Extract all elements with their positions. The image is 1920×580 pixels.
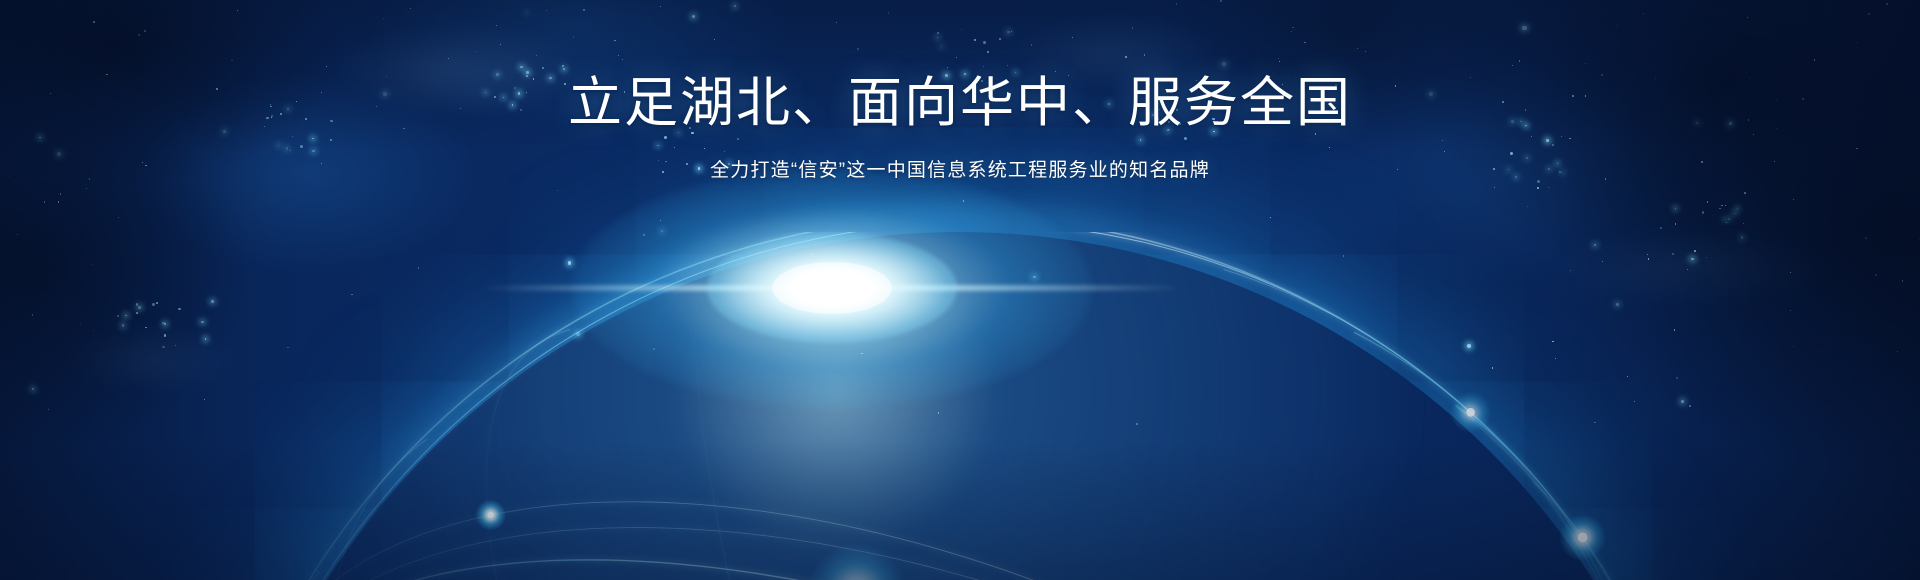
banner-copy: 立足湖北、面向华中、服务全国 全力打造“信安”这一中国信息系统工程服务业的知名品… [0,72,1920,185]
banner-headline: 立足湖北、面向华中、服务全国 [0,72,1920,135]
banner-subheadline: 全力打造“信安”这一中国信息系统工程服务业的知名品牌 [0,157,1920,186]
hero-banner: 立足湖北、面向华中、服务全国 全力打造“信安”这一中国信息系统工程服务业的知名品… [0,0,1920,580]
